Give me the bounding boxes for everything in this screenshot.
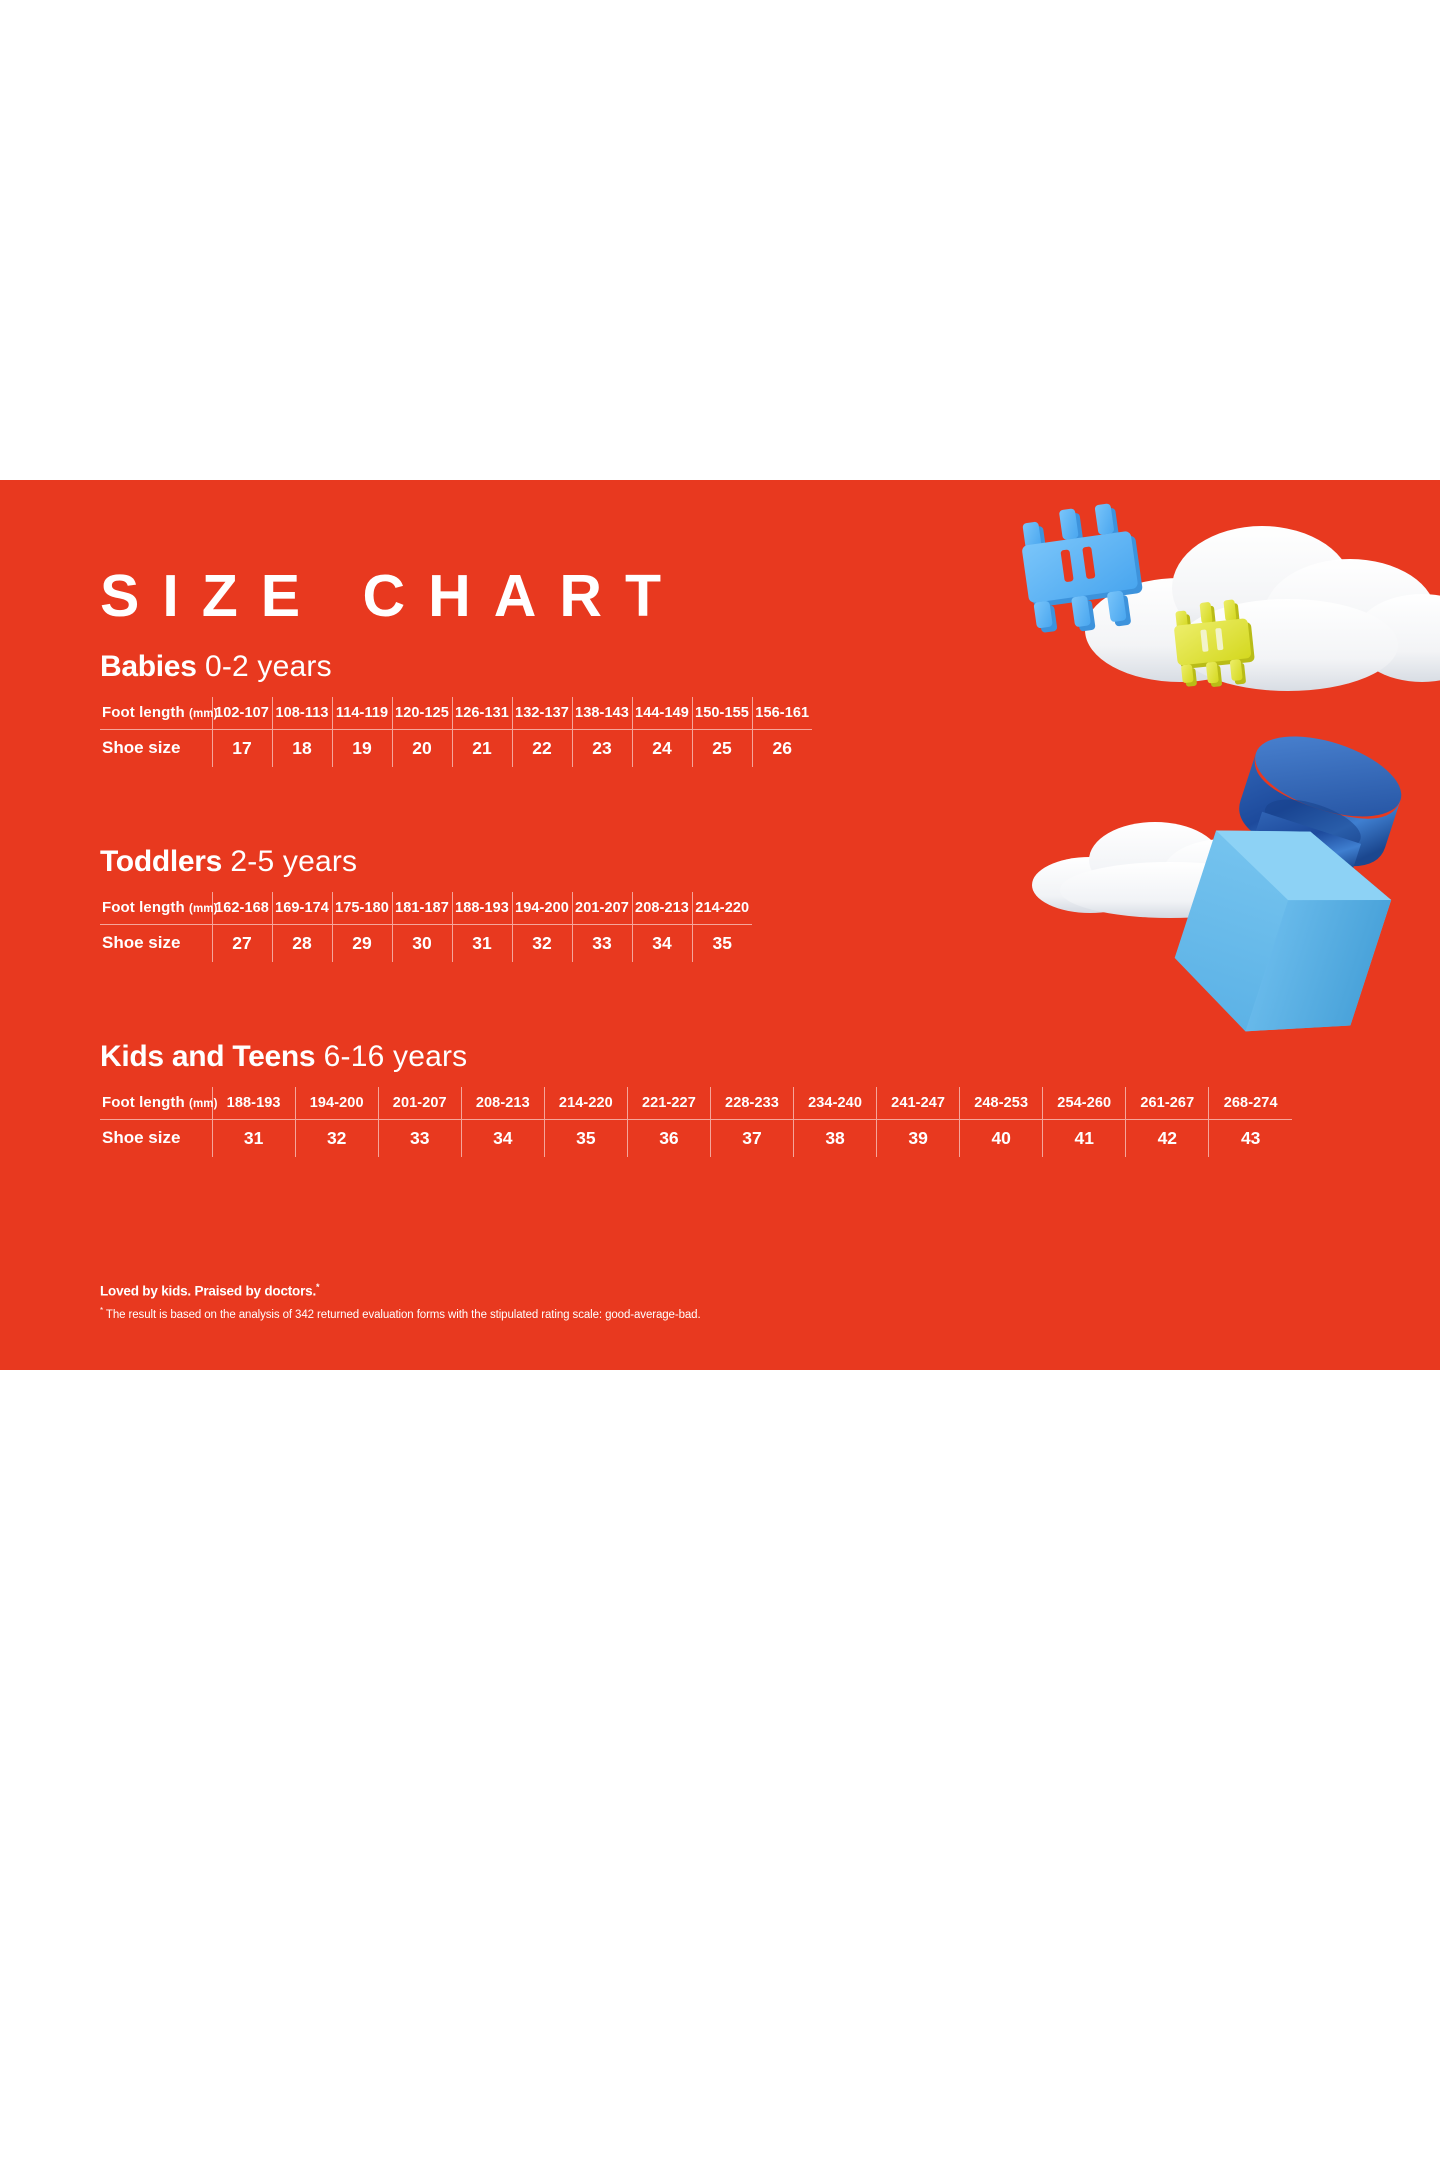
row-label-foot-length: Foot length (mm) — [100, 892, 212, 924]
foot-length-text: Foot length — [102, 899, 185, 916]
cell-shoe-size: 24 — [632, 729, 692, 767]
footer: Loved by kids. Praised by doctors.* * Th… — [100, 1282, 701, 1320]
cell-foot-length: 201-207 — [572, 892, 632, 924]
section-name: Kids and Teens — [100, 1040, 315, 1073]
section-heading-toddlers: Toddlers 2-5 years — [100, 845, 752, 878]
cell-foot-length: 138-143 — [572, 697, 632, 729]
cell-foot-length: 214-220 — [692, 892, 752, 924]
section-age-range: 6-16 years — [324, 1040, 468, 1073]
cell-foot-length: 162-168 — [212, 892, 272, 924]
section-kids-and-teens: Kids and Teens 6-16 years Foot length (m… — [100, 1040, 1292, 1157]
foot-length-unit: (mm) — [189, 903, 218, 915]
table-row-shoe-size: Shoe size 31 32 33 34 35 36 37 38 39 40 … — [100, 1119, 1292, 1157]
footer-claim: Loved by kids. Praised by doctors.* — [100, 1282, 701, 1299]
cell-foot-length: 248-253 — [960, 1087, 1043, 1119]
cell-shoe-size: 25 — [692, 729, 752, 767]
cell-foot-length: 175-180 — [332, 892, 392, 924]
cell-foot-length: 126-131 — [452, 697, 512, 729]
section-name: Babies — [100, 650, 197, 683]
cell-shoe-size: 28 — [272, 924, 332, 962]
cell-shoe-size: 33 — [572, 924, 632, 962]
cell-shoe-size: 29 — [332, 924, 392, 962]
cell-foot-length: 188-193 — [212, 1087, 295, 1119]
cell-shoe-size: 26 — [752, 729, 812, 767]
cell-shoe-size: 38 — [794, 1119, 877, 1157]
cell-shoe-size: 30 — [392, 924, 452, 962]
table-row-foot-length: Foot length (mm) 188-193 194-200 201-207… — [100, 1087, 1292, 1119]
cell-foot-length: 261-267 — [1126, 1087, 1209, 1119]
section-toddlers: Toddlers 2-5 years Foot length (mm) 162-… — [100, 845, 752, 962]
cell-shoe-size: 22 — [512, 729, 572, 767]
cell-shoe-size: 41 — [1043, 1119, 1126, 1157]
cell-foot-length: 228-233 — [710, 1087, 793, 1119]
cell-shoe-size: 37 — [710, 1119, 793, 1157]
cell-foot-length: 234-240 — [794, 1087, 877, 1119]
cell-foot-length: 102-107 — [212, 697, 272, 729]
cell-foot-length: 208-213 — [632, 892, 692, 924]
row-label-foot-length: Foot length (mm) — [100, 697, 212, 729]
invader-blue-icon — [1020, 502, 1170, 647]
row-label-foot-length: Foot length (mm) — [100, 1087, 212, 1119]
cell-foot-length: 144-149 — [632, 697, 692, 729]
cell-shoe-size: 43 — [1209, 1119, 1292, 1157]
table-row-foot-length: Foot length (mm) 162-168 169-174 175-180… — [100, 892, 752, 924]
row-label-shoe-size: Shoe size — [100, 1119, 212, 1157]
cell-shoe-size: 34 — [461, 1119, 544, 1157]
page-title: SIZE CHART — [100, 567, 684, 626]
row-label-shoe-size: Shoe size — [100, 924, 212, 962]
table-row-foot-length: Foot length (mm) 102-107 108-113 114-119… — [100, 697, 812, 729]
footer-claim-marker: * — [316, 1282, 319, 1292]
cell-foot-length: 201-207 — [378, 1087, 461, 1119]
cell-foot-length: 268-274 — [1209, 1087, 1292, 1119]
footer-claim-text: Loved by kids. Praised by doctors. — [100, 1284, 316, 1299]
footer-note-text: The result is based on the analysis of 3… — [103, 1308, 701, 1320]
cell-shoe-size: 40 — [960, 1119, 1043, 1157]
cell-foot-length: 169-174 — [272, 892, 332, 924]
cell-foot-length: 156-161 — [752, 697, 812, 729]
section-age-range: 0-2 years — [205, 650, 332, 683]
cell-foot-length: 254-260 — [1043, 1087, 1126, 1119]
footer-note: * The result is based on the analysis of… — [100, 1306, 701, 1321]
cell-foot-length: 132-137 — [512, 697, 572, 729]
foot-length-unit: (mm) — [189, 1098, 218, 1110]
section-heading-babies: Babies 0-2 years — [100, 650, 812, 683]
cloud-icon — [1030, 510, 1440, 700]
page-root: SIZE CHART Babies 0-2 years Foot length … — [0, 0, 1440, 2160]
toy-block-icon — [1130, 730, 1440, 1060]
foot-length-text: Foot length — [102, 1094, 185, 1111]
cell-shoe-size: 36 — [627, 1119, 710, 1157]
cloud-lower-icon — [1020, 780, 1360, 940]
cell-shoe-size: 32 — [295, 1119, 378, 1157]
cell-foot-length: 241-247 — [877, 1087, 960, 1119]
cell-shoe-size: 35 — [692, 924, 752, 962]
cell-foot-length: 181-187 — [392, 892, 452, 924]
cell-shoe-size: 20 — [392, 729, 452, 767]
cell-shoe-size: 18 — [272, 729, 332, 767]
foot-length-text: Foot length — [102, 704, 185, 721]
size-chart-panel: SIZE CHART Babies 0-2 years Foot length … — [0, 480, 1440, 1370]
cell-foot-length: 194-200 — [295, 1087, 378, 1119]
foot-length-unit: (mm) — [189, 708, 218, 720]
table-row-shoe-size: Shoe size 17 18 19 20 21 22 23 24 25 26 — [100, 729, 812, 767]
size-table-kids-and-teens: Foot length (mm) 188-193 194-200 201-207… — [100, 1087, 1292, 1157]
cell-foot-length: 108-113 — [272, 697, 332, 729]
cell-shoe-size: 23 — [572, 729, 632, 767]
cell-shoe-size: 33 — [378, 1119, 461, 1157]
cell-shoe-size: 19 — [332, 729, 392, 767]
cell-shoe-size: 34 — [632, 924, 692, 962]
cell-shoe-size: 35 — [544, 1119, 627, 1157]
cell-foot-length: 120-125 — [392, 697, 452, 729]
cell-shoe-size: 21 — [452, 729, 512, 767]
invader-yellow-icon — [1172, 598, 1270, 693]
table-row-shoe-size: Shoe size 27 28 29 30 31 32 33 34 35 — [100, 924, 752, 962]
cell-shoe-size: 42 — [1126, 1119, 1209, 1157]
size-table-toddlers: Foot length (mm) 162-168 169-174 175-180… — [100, 892, 752, 962]
cell-foot-length: 194-200 — [512, 892, 572, 924]
cell-shoe-size: 17 — [212, 729, 272, 767]
cell-foot-length: 208-213 — [461, 1087, 544, 1119]
section-babies: Babies 0-2 years Foot length (mm) 102-10… — [100, 650, 812, 767]
cell-shoe-size: 39 — [877, 1119, 960, 1157]
cell-shoe-size: 27 — [212, 924, 272, 962]
cell-foot-length: 150-155 — [692, 697, 752, 729]
cell-foot-length: 188-193 — [452, 892, 512, 924]
cell-foot-length: 114-119 — [332, 697, 392, 729]
cell-shoe-size: 31 — [212, 1119, 295, 1157]
cell-shoe-size: 32 — [512, 924, 572, 962]
section-age-range: 2-5 years — [230, 845, 357, 878]
section-heading-kids-and-teens: Kids and Teens 6-16 years — [100, 1040, 1292, 1073]
row-label-shoe-size: Shoe size — [100, 729, 212, 767]
section-name: Toddlers — [100, 845, 222, 878]
cell-foot-length: 221-227 — [627, 1087, 710, 1119]
cell-shoe-size: 31 — [452, 924, 512, 962]
cell-foot-length: 214-220 — [544, 1087, 627, 1119]
size-table-babies: Foot length (mm) 102-107 108-113 114-119… — [100, 697, 812, 767]
